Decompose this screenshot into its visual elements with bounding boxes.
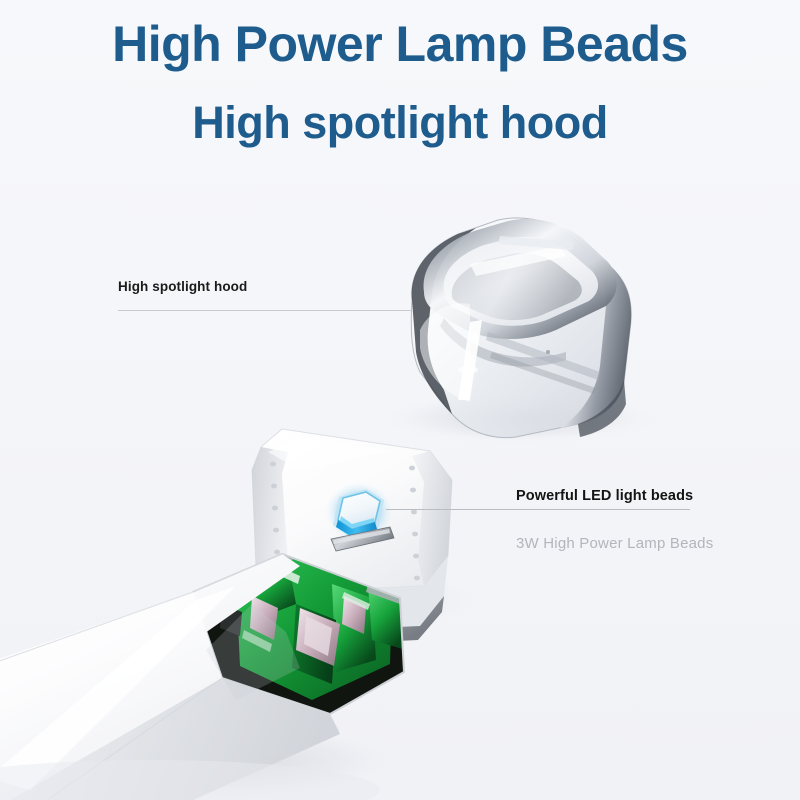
hood-speck [546, 350, 550, 354]
callout-left-title: High spotlight hood [118, 279, 418, 295]
page-title: High Power Lamp Beads [0, 0, 800, 74]
page-subtitle: High spotlight hood [0, 74, 800, 150]
callout-right-subtitle: 3W High Power Lamp Beads [516, 535, 776, 553]
heading-block: High Power Lamp Beads High spotlight hoo… [0, 0, 800, 150]
infographic-page: High Power Lamp Beads High spotlight hoo… [0, 0, 800, 800]
callout-right-leader-line [386, 509, 690, 510]
callout-right-title: Powerful LED light beads [516, 488, 776, 505]
callout-powerful-led-light-beads: Powerful LED light beads 3W High Power L… [516, 488, 776, 553]
callout-high-spotlight-hood: High spotlight hood [118, 279, 418, 311]
led-chip [325, 482, 394, 551]
hood-gloss-dot [458, 366, 478, 374]
callout-left-leader-line [118, 310, 412, 311]
